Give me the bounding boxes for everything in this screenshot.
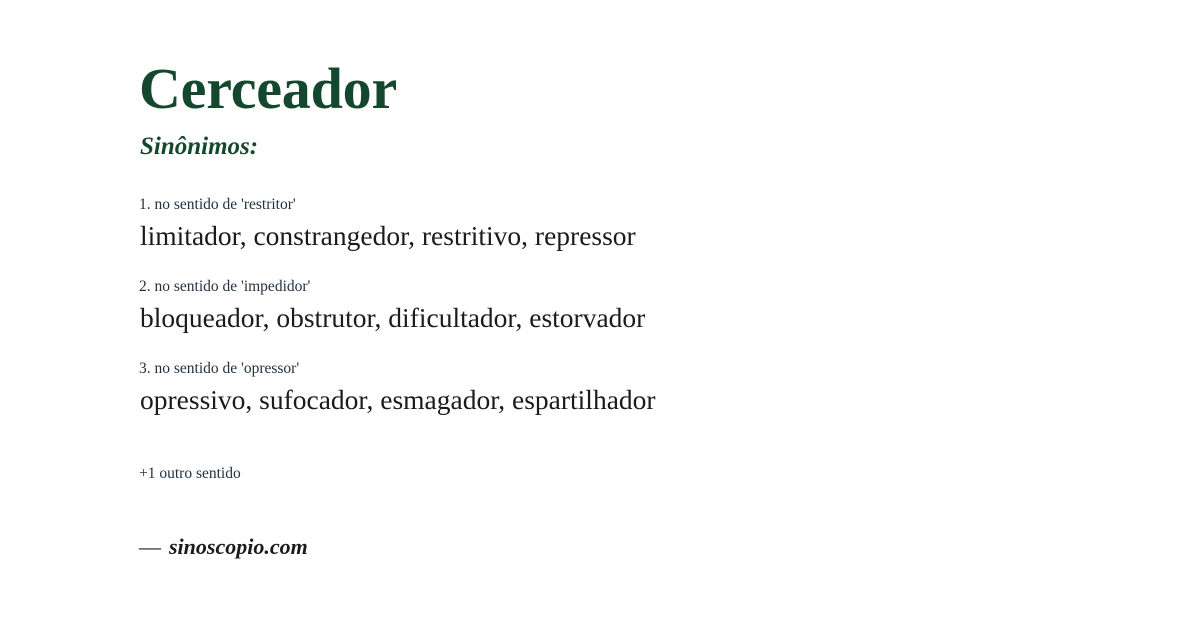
sense-group: 1. no sentido de 'restritor' limitador, … xyxy=(139,196,1139,252)
sense-group: 2. no sentido de 'impedidor' bloqueador,… xyxy=(139,278,1139,334)
sense-synonyms: opressivo, sufocador, esmagador, esparti… xyxy=(140,383,1139,417)
synonyms-subheading: Sinônimos: xyxy=(140,133,258,161)
sense-label: 1. no sentido de 'restritor' xyxy=(139,196,1139,215)
more-senses-note: +1 outro sentido xyxy=(139,465,241,484)
sense-label: 3. no sentido de 'opressor' xyxy=(139,360,1139,379)
sense-group: 3. no sentido de 'opressor' opressivo, s… xyxy=(139,360,1139,416)
source-name: sinoscopio.com xyxy=(169,534,308,559)
page-title: Cerceador xyxy=(139,58,397,121)
source-attribution: —sinoscopio.com xyxy=(139,534,308,560)
synonym-card: Cerceador Sinônimos: 1. no sentido de 'r… xyxy=(0,0,1200,628)
em-dash-glyph: — xyxy=(139,534,161,559)
sense-synonyms: bloqueador, obstrutor, dificultador, est… xyxy=(140,301,1139,335)
sense-synonyms: limitador, constrangedor, restritivo, re… xyxy=(140,219,1139,253)
senses-list: 1. no sentido de 'restritor' limitador, … xyxy=(139,196,1139,416)
sense-label: 2. no sentido de 'impedidor' xyxy=(139,278,1139,297)
